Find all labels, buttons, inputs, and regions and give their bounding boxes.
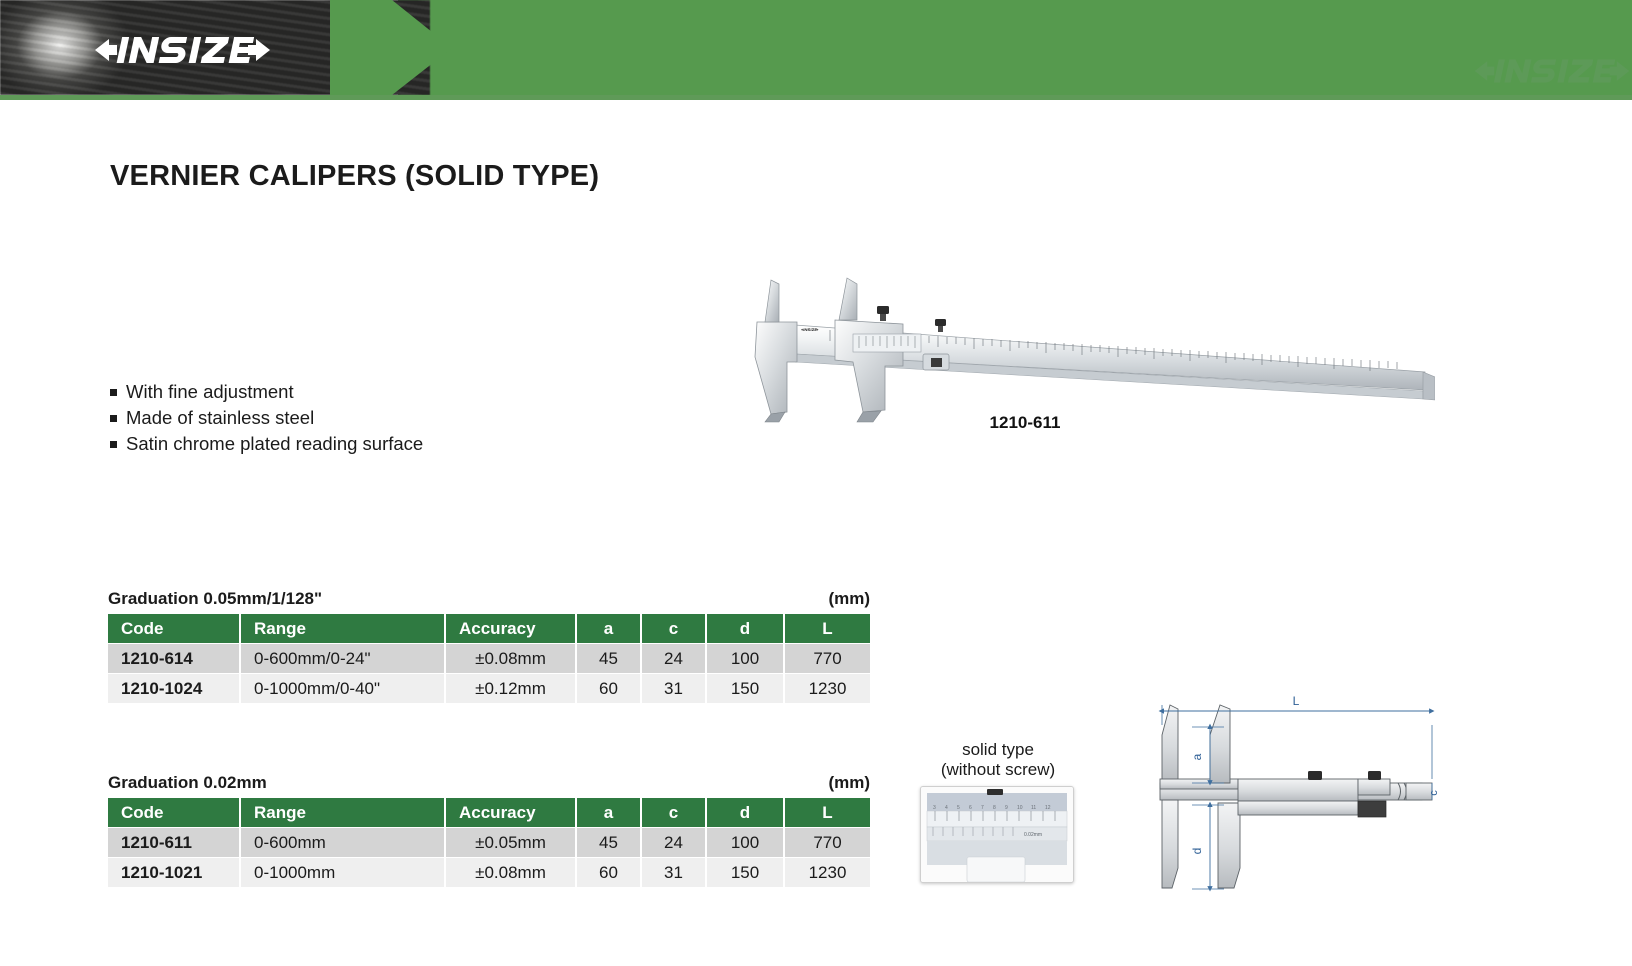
table-row[interactable]: 1210-614 0-600mm/0-24" ±0.08mm 45 24 100… bbox=[108, 644, 870, 674]
solid-type-caption-line2: (without screw) bbox=[900, 760, 1096, 780]
cell-d: 150 bbox=[706, 674, 784, 704]
table-caption: Graduation 0.02mm bbox=[108, 773, 267, 793]
spec-table: Code Range Accuracy a c d L 1210-611 0-6… bbox=[108, 798, 870, 888]
col-header-code: Code bbox=[108, 798, 240, 828]
cell-accuracy: ±0.05mm bbox=[445, 828, 576, 858]
cell-a: 60 bbox=[576, 674, 641, 704]
feature-item: Made of stainless steel bbox=[110, 407, 540, 429]
scale-graduation-text: 0.02mm bbox=[1024, 832, 1042, 838]
cell-d: 100 bbox=[706, 644, 784, 674]
cell-c: 24 bbox=[641, 644, 706, 674]
cell-l: 1230 bbox=[784, 858, 870, 888]
cell-c: 31 bbox=[641, 858, 706, 888]
col-header-code: Code bbox=[108, 614, 240, 644]
svg-text:3: 3 bbox=[933, 805, 936, 811]
svg-text:6: 6 bbox=[969, 805, 972, 811]
cell-a: 45 bbox=[576, 828, 641, 858]
col-header-l: L bbox=[784, 614, 870, 644]
cell-range: 0-600mm bbox=[240, 828, 445, 858]
spec-table-graduation-002: Graduation 0.02mm (mm) Code Range Accura… bbox=[108, 773, 870, 888]
svg-text:11: 11 bbox=[1031, 805, 1036, 811]
feature-item: Satin chrome plated reading surface bbox=[110, 433, 540, 455]
col-header-range: Range bbox=[240, 798, 445, 828]
cell-c: 24 bbox=[641, 828, 706, 858]
spec-table: Code Range Accuracy a c d L 1210-614 0-6… bbox=[108, 614, 870, 704]
table-row[interactable]: 1210-611 0-600mm ±0.05mm 45 24 100 770 bbox=[108, 828, 870, 858]
svg-text:10: 10 bbox=[1017, 805, 1023, 811]
svg-text:5: 5 bbox=[957, 805, 960, 811]
feature-label: Satin chrome plated reading surface bbox=[126, 433, 423, 455]
square-bullet-icon bbox=[110, 441, 117, 448]
header-green-band bbox=[398, 0, 1632, 95]
cell-code: 1210-1021 bbox=[108, 858, 240, 888]
cell-accuracy: ±0.12mm bbox=[445, 674, 576, 704]
feature-list: With fine adjustment Made of stainless s… bbox=[110, 381, 540, 459]
spec-table-graduation-005: Graduation 0.05mm/1/128" (mm) Code Range… bbox=[108, 589, 870, 704]
feature-item: With fine adjustment bbox=[110, 381, 540, 403]
solid-type-caption: solid type (without screw) bbox=[900, 740, 1096, 780]
cell-range: 0-600mm/0-24" bbox=[240, 644, 445, 674]
insize-watermark-logo bbox=[1472, 56, 1632, 86]
svg-text:7: 7 bbox=[981, 805, 984, 811]
dim-label-a: a bbox=[1190, 753, 1204, 760]
cell-code: 1210-611 bbox=[108, 828, 240, 858]
col-header-range: Range bbox=[240, 614, 445, 644]
dim-label-d: d bbox=[1190, 848, 1204, 855]
col-header-accuracy: Accuracy bbox=[445, 798, 576, 828]
col-header-accuracy: Accuracy bbox=[445, 614, 576, 644]
product-model-caption: 1210-611 bbox=[900, 413, 1150, 433]
cell-l: 770 bbox=[784, 828, 870, 858]
svg-text:12: 12 bbox=[1045, 805, 1051, 811]
table-row[interactable]: 1210-1024 0-1000mm/0-40" ±0.12mm 60 31 1… bbox=[108, 674, 870, 704]
dim-label-L: L bbox=[1293, 694, 1300, 708]
col-header-c: c bbox=[641, 614, 706, 644]
svg-text:8: 8 bbox=[993, 805, 996, 811]
cell-range: 0-1000mm/0-40" bbox=[240, 674, 445, 704]
square-bullet-icon bbox=[110, 415, 117, 422]
page-title: VERNIER CALIPERS (SOLID TYPE) bbox=[110, 160, 599, 193]
col-header-a: a bbox=[576, 798, 641, 828]
cell-d: 100 bbox=[706, 828, 784, 858]
cell-c: 31 bbox=[641, 674, 706, 704]
dimension-drawing: L a d c bbox=[1140, 683, 1440, 898]
cell-a: 60 bbox=[576, 858, 641, 888]
table-header-row: Code Range Accuracy a c d L bbox=[108, 798, 870, 828]
col-header-c: c bbox=[641, 798, 706, 828]
cell-code: 1210-614 bbox=[108, 644, 240, 674]
cell-l: 1230 bbox=[784, 674, 870, 704]
table-unit-label: (mm) bbox=[828, 773, 870, 793]
cell-l: 770 bbox=[784, 644, 870, 674]
square-bullet-icon bbox=[110, 389, 117, 396]
solid-type-detail-photo: 345 678 91011 12 0.02mm bbox=[920, 786, 1074, 883]
feature-label: With fine adjustment bbox=[126, 381, 294, 403]
feature-label: Made of stainless steel bbox=[126, 407, 314, 429]
table-unit-label: (mm) bbox=[828, 589, 870, 609]
cell-accuracy: ±0.08mm bbox=[445, 858, 576, 888]
page-header bbox=[0, 0, 1632, 100]
svg-text:4: 4 bbox=[945, 805, 948, 811]
cell-range: 0-1000mm bbox=[240, 858, 445, 888]
insize-logo[interactable] bbox=[95, 33, 270, 67]
col-header-a: a bbox=[576, 614, 641, 644]
cell-accuracy: ±0.08mm bbox=[445, 644, 576, 674]
col-header-d: d bbox=[706, 798, 784, 828]
col-header-d: d bbox=[706, 614, 784, 644]
header-green-rule bbox=[0, 95, 1632, 100]
col-header-l: L bbox=[784, 798, 870, 828]
table-row[interactable]: 1210-1021 0-1000mm ±0.08mm 60 31 150 123… bbox=[108, 858, 870, 888]
svg-text:9: 9 bbox=[1005, 805, 1008, 811]
table-caption: Graduation 0.05mm/1/128" bbox=[108, 589, 322, 609]
table-header-row: Code Range Accuracy a c d L bbox=[108, 614, 870, 644]
solid-type-caption-line1: solid type bbox=[900, 740, 1096, 760]
cell-code: 1210-1024 bbox=[108, 674, 240, 704]
dim-label-c: c bbox=[1428, 790, 1440, 796]
cell-d: 150 bbox=[706, 858, 784, 888]
cell-a: 45 bbox=[576, 644, 641, 674]
product-photo bbox=[735, 262, 1435, 427]
